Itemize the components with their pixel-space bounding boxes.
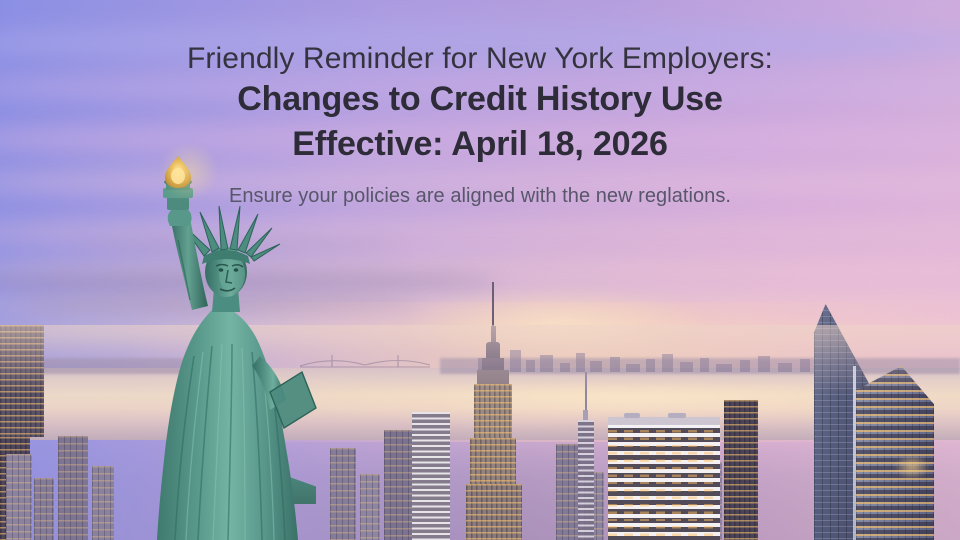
announcement-banner: Friendly Reminder for New York Employers…: [0, 0, 960, 540]
headline-line-2: Effective: April 18, 2026: [0, 122, 960, 168]
kicker-line: Friendly Reminder for New York Employers…: [0, 42, 960, 77]
statue-of-liberty: [120, 160, 325, 540]
subtitle-line: Ensure your policies are aligned with th…: [0, 168, 960, 208]
glass-tower: [798, 304, 940, 540]
one-world-trade-center: [578, 418, 594, 540]
dark-tower: [724, 400, 758, 540]
pale-tower: [412, 412, 450, 540]
empire-state-building: [466, 340, 522, 540]
headline-line-1: Changes to Credit History Use: [0, 77, 960, 123]
front-block-building: [608, 424, 720, 540]
headline-group: Friendly Reminder for New York Employers…: [0, 42, 960, 208]
